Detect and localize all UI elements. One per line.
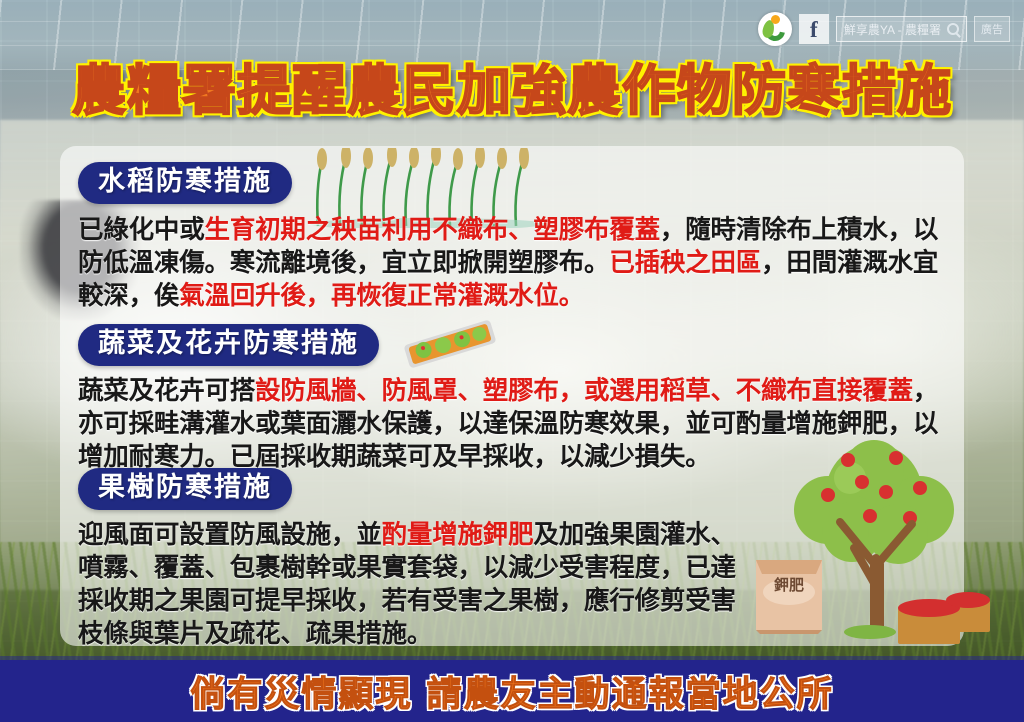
section-fruit-tree-body: 迎風面可設置防風設施，並酌量增施鉀肥及加強果園灌水、噴霧、覆蓋、包裹樹幹或果實套… <box>78 519 758 651</box>
nongyu-brand-logo-icon <box>758 12 792 46</box>
section-fruit-tree: 果樹防寒措施 迎風面可設置防風設施，並酌量增施鉀肥及加強果園灌水、噴霧、覆蓋、包… <box>78 468 778 651</box>
section-vegetable-flower: 蔬菜及花卉防寒措施 蔬菜及花卉可搭設防風牆、防風罩、塑膠布，或選用稻草、不織布直… <box>78 324 958 474</box>
body-text-run: 已綠化中或 <box>78 215 205 245</box>
section-rice-body: 已綠化中或生育初期之秧苗利用不織布、塑膠布覆蓋，隨時清除布上積水，以防低溫凍傷。… <box>78 214 958 313</box>
highlighted-text: 設防風牆、防風罩、塑膠布，或選用稻草、不織布直接覆蓋 <box>255 376 913 406</box>
section-rice: 水稻防寒措施 已綠化中或生育初期之秧苗利用不織布、塑膠布覆蓋，隨時清除布上積水，… <box>78 162 958 313</box>
highlighted-text: 酌量增施鉀肥 <box>382 520 534 550</box>
search-input-value[interactable]: 鮮享農YA - 農糧署 <box>844 21 941 38</box>
header-bar: f 鮮享農YA - 農糧署 廣告 <box>758 12 1010 46</box>
section-rice-heading: 水稻防寒措施 <box>78 162 292 204</box>
footer-banner: 倘有災情顯現 請農友主動通報當地公所 <box>0 660 1024 722</box>
body-text-run: 迎風面可設置防風設施，並 <box>78 520 382 550</box>
section-vegetable-flower-body: 蔬菜及花卉可搭設防風牆、防風罩、塑膠布，或選用稻草、不織布直接覆蓋，亦可採畦溝灌… <box>78 375 958 474</box>
page-title: 農糧署提醒農民加強農作物防寒措施 <box>72 62 952 120</box>
highlighted-text: 生育初期之秧苗利用不織布、塑膠布覆蓋 <box>205 215 660 245</box>
facebook-icon[interactable]: f <box>799 14 829 44</box>
ad-badge: 廣告 <box>974 16 1010 42</box>
footer-text: 倘有災情顯現 請農友主動通報當地公所 <box>190 666 833 717</box>
section-fruit-tree-heading: 果樹防寒措施 <box>78 468 292 510</box>
highlighted-text: 已插秧之田區 <box>609 248 761 278</box>
search-box[interactable]: 鮮享農YA - 農糧署 <box>836 16 967 42</box>
logo-sun-icon <box>771 15 780 24</box>
poster-root: f 鮮享農YA - 農糧署 廣告 農糧署提醒農民加強農作物防寒措施 <box>0 0 1024 722</box>
section-vegetable-flower-heading: 蔬菜及花卉防寒措施 <box>78 324 379 366</box>
search-icon[interactable] <box>947 23 959 35</box>
page-title-wrapper: 農糧署提醒農民加強農作物防寒措施 <box>0 62 1024 120</box>
body-text-run: 蔬菜及花卉可搭 <box>78 376 255 406</box>
highlighted-text: 氣溫回升後，再恢復正常灌溉水位。 <box>179 281 584 311</box>
